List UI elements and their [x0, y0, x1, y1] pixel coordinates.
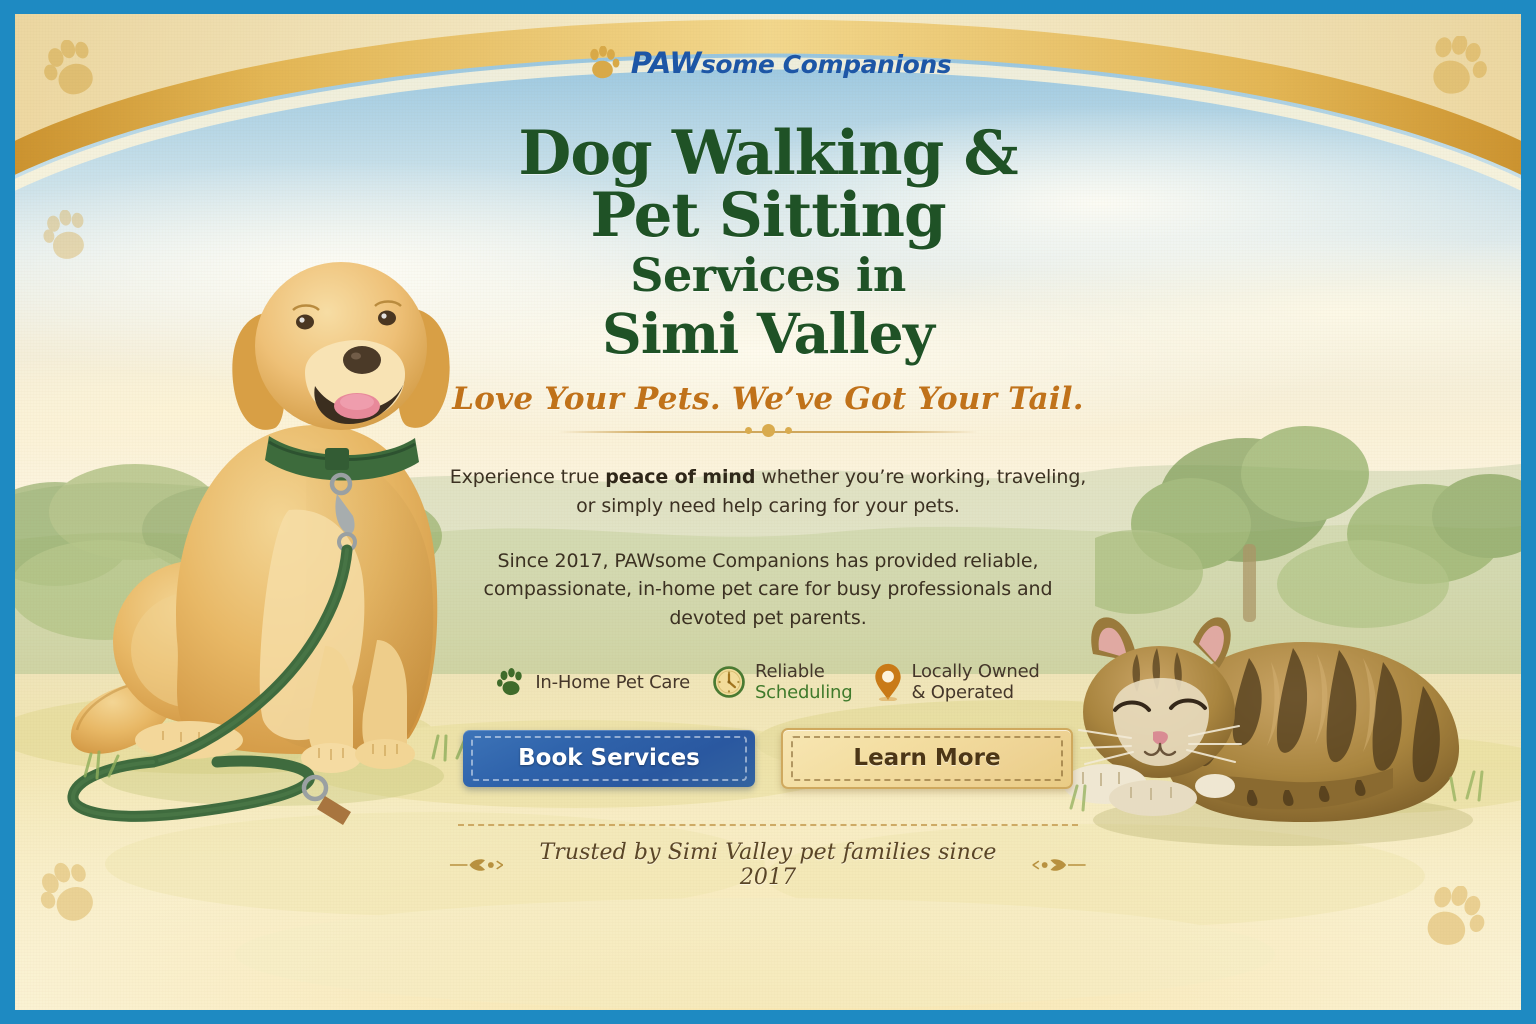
paw-watermark-top-right: [1423, 36, 1489, 100]
leaf-flourish-icon: [1033, 856, 1088, 874]
paw-watermark-bottom-left: [39, 862, 105, 926]
divider-dot-left: [745, 427, 752, 434]
clock-icon: [712, 665, 746, 699]
tagline: Love Your Pets. We’ve Got Your Tail.: [448, 381, 1088, 417]
footer-divider: [458, 824, 1078, 826]
feature-line-1: In-Home Pet Care: [535, 672, 690, 693]
feature-locally-owned: Locally Owned & Operated: [874, 661, 1039, 703]
brand-name: PAWsome Companions: [631, 46, 952, 80]
paw-print-icon: [585, 46, 621, 80]
feature-line-2: Scheduling: [755, 682, 852, 703]
intro-emphasis: peace of mind: [605, 466, 755, 488]
ornamental-divider: [558, 423, 978, 439]
feature-label: Locally Owned & Operated: [911, 661, 1039, 703]
learn-more-button[interactable]: Learn More: [781, 728, 1073, 789]
headline-line-4: Simi Valley: [448, 304, 1088, 363]
divider-dot-right: [785, 427, 792, 434]
brand-name-strong: PAW: [631, 46, 701, 80]
headline-line-1: Dog Walking &: [448, 123, 1088, 185]
history-paragraph: Since 2017, PAWsome Companions has provi…: [448, 547, 1088, 634]
leaf-flourish-icon: [448, 856, 503, 874]
intro-paragraph: Experience true peace of mind whether yo…: [448, 463, 1088, 521]
page-title: Dog Walking & Pet Sitting Services in Si…: [448, 123, 1088, 364]
poster-content: PAWsome Companions Dog Walking & Pet Sit…: [448, 14, 1088, 890]
feature-line-2: & Operated: [911, 682, 1039, 703]
brand-lockup: PAWsome Companions: [448, 46, 1088, 80]
poster-frame: PAWsome Companions Dog Walking & Pet Sit…: [0, 0, 1536, 1024]
headline-line-2: Pet Sitting: [448, 185, 1088, 247]
map-pin-icon: [874, 663, 902, 701]
headline-line-3: Services in: [448, 247, 1088, 304]
feature-line-1: Locally Owned: [911, 661, 1039, 682]
feature-badges: In-Home Pet Care Reliable: [448, 661, 1088, 703]
brand-name-soft: some Companions: [701, 50, 951, 79]
feature-line-1: Reliable: [755, 661, 852, 682]
footer: Trusted by Simi Valley pet families sinc…: [448, 824, 1088, 890]
feature-reliable-scheduling: Reliable Scheduling: [712, 661, 852, 703]
paw-watermark-top-left: [43, 40, 105, 100]
feature-label: Reliable Scheduling: [755, 661, 852, 703]
cta-row: Book Services Learn More: [448, 728, 1088, 789]
feature-label: In-Home Pet Care: [535, 672, 690, 693]
intro-pre: Experience true: [450, 466, 605, 488]
paw-print-icon: [496, 668, 526, 696]
golden-retriever-illustration: [57, 210, 487, 840]
poster-canvas: PAWsome Companions Dog Walking & Pet Sit…: [15, 14, 1521, 1010]
footer-line: Trusted by Simi Valley pet families sinc…: [448, 840, 1088, 890]
divider-dot-center: [762, 424, 775, 437]
feature-in-home-pet-care: In-Home Pet Care: [496, 668, 690, 696]
paw-watermark-bottom-right: [1419, 886, 1487, 952]
book-services-button[interactable]: Book Services: [463, 730, 755, 787]
footer-text: Trusted by Simi Valley pet families sinc…: [515, 840, 1022, 890]
sleeping-tabby-cat-illustration: [1053, 592, 1493, 862]
